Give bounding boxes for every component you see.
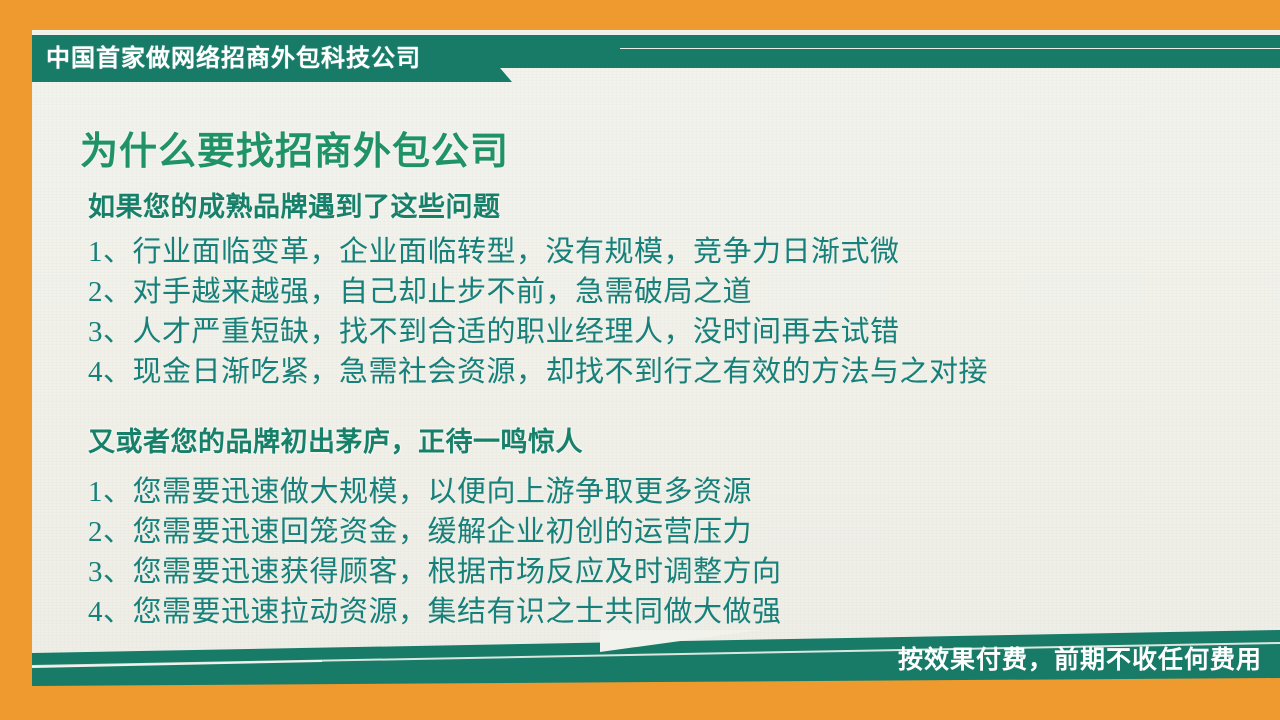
section-heading-problems: 如果您的成熟品牌遇到了这些问题 — [88, 185, 501, 224]
slide-root: 中国首家做网络招商外包科技公司 为什么要找招商外包公司 如果您的成熟品牌遇到了这… — [0, 0, 1280, 720]
header-banner-right-block — [470, 35, 1280, 68]
problem-list: 1、行业面临变革，企业面临转型，没有规模，竞争力日渐式微 2、对手越来越强，自己… — [88, 232, 988, 392]
list-item: 3、您需要迅速获得顾客，根据市场反应及时调整方向 — [88, 552, 782, 592]
section-heading-newbrand: 又或者您的品牌初出茅庐，正待一鸣惊人 — [88, 420, 583, 459]
list-item: 2、您需要迅速回笼资金，缓解企业初创的运营压力 — [88, 512, 782, 552]
list-item: 4、您需要迅速拉动资源，集结有识之士共同做大做强 — [88, 592, 782, 632]
footer-tagline: 按效果付费，前期不收任何费用 — [898, 640, 1262, 676]
header-hairline — [620, 48, 1280, 49]
list-item: 1、您需要迅速做大规模，以便向上游争取更多资源 — [88, 472, 782, 512]
footer: 按效果付费，前期不收任何费用 — [0, 630, 1280, 692]
list-item: 2、对手越来越强，自己却止步不前，急需破局之道 — [88, 272, 988, 312]
list-item: 3、人才严重短缺，找不到合适的职业经理人，没时间再去试错 — [88, 312, 988, 352]
list-item: 4、现金日渐吃紧，急需社会资源，却找不到行之有效的方法与之对接 — [88, 352, 988, 392]
newbrand-list: 1、您需要迅速做大规模，以便向上游争取更多资源 2、您需要迅速回笼资金，缓解企业… — [88, 472, 782, 632]
header-banner-label: 中国首家做网络招商外包科技公司 — [46, 40, 421, 78]
list-item: 1、行业面临变革，企业面临转型，没有规模，竞争力日渐式微 — [88, 232, 988, 272]
page-title: 为什么要找招商外包公司 — [80, 120, 509, 175]
